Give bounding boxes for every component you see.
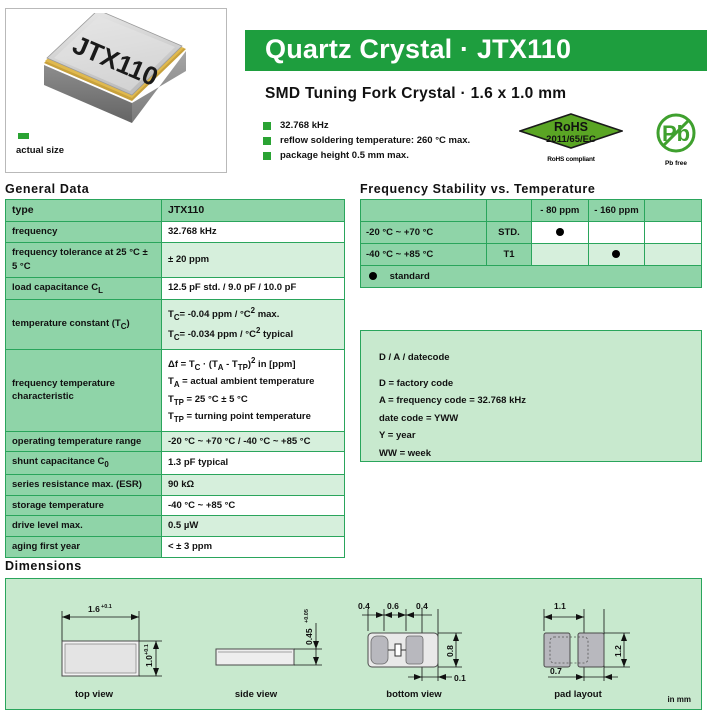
cell-temp-range: -40 °C ~ +85 °C <box>361 244 487 266</box>
table-row: -20 °C ~ +70 °C STD. <box>361 222 702 244</box>
standard-dot-icon <box>369 272 377 280</box>
product-header: JTX110 actual size Quartz Crystal · JTX1… <box>0 0 707 178</box>
cell-key: load capacitance CL <box>6 277 162 299</box>
table-row: series resistance max. (ESR) 90 kΩ <box>6 474 345 495</box>
cell-header-blank <box>487 200 532 222</box>
table-row: storage temperature -40 °C ~ +85 °C <box>6 495 345 516</box>
cell-value: JTX110 <box>162 200 345 222</box>
rohs-badge: RoHS 2011/65/EC RoHS compliant <box>519 113 623 163</box>
dim-pad-width: 0.7 <box>550 666 562 676</box>
cell-header-80ppm: - 80 ppm <box>532 200 589 222</box>
actual-size-swatch <box>18 133 29 139</box>
table-row: load capacitance CL 12.5 pF std. / 9.0 p… <box>6 277 345 299</box>
pad-layout-drawing: 1.1 1.2 0.7 <box>526 593 686 688</box>
table-row: - 80 ppm - 160 ppm <box>361 200 702 222</box>
view-caption-side: side view <box>196 689 316 700</box>
bullet-square-icon <box>263 152 271 160</box>
frequency-stability-table: - 80 ppm - 160 ppm -20 °C ~ +70 °C STD. … <box>360 199 702 288</box>
cell-mark <box>588 222 645 244</box>
cell-grade-code: T1 <box>487 244 532 266</box>
cell-header-blank <box>645 200 702 222</box>
table-row: -40 °C ~ +85 °C T1 <box>361 244 702 266</box>
table-row: drive level max. 0.5 µW <box>6 516 345 537</box>
cell-key: type <box>6 200 162 222</box>
top-view-drawing: 1.6 +0.1 1.0 +0.1 <box>44 593 194 688</box>
view-caption-top: top view <box>34 689 154 700</box>
page-title: Quartz Crystal · JTX110 <box>245 30 707 65</box>
cell-value: 32.768 kHz <box>162 222 345 243</box>
cell-key: storage temperature <box>6 495 162 516</box>
product-subtitle: SMD Tuning Fork Crystal · 1.6 x 1.0 mm <box>265 85 566 103</box>
dim-bottom-gap: 0.1 <box>454 673 466 683</box>
cell-value: 90 kΩ <box>162 474 345 495</box>
highlight-text: reflow soldering temperature: 260 °C max… <box>280 135 470 146</box>
standard-dot-icon <box>556 228 564 236</box>
units-note: in mm <box>667 695 691 704</box>
view-caption-pad: pad layout <box>518 689 638 700</box>
table-row: operating temperature range -20 °C ~ +70… <box>6 431 345 452</box>
highlight-text: 32.768 kHz <box>280 120 329 131</box>
cell-mark <box>532 244 589 266</box>
pb-free-badge: Pb Pb free <box>650 112 702 167</box>
cell-value: 12.5 pF std. / 9.0 pF / 10.0 pF <box>162 277 345 299</box>
list-item: reflow soldering temperature: 260 °C max… <box>263 135 470 146</box>
cell-header-blank <box>361 200 487 222</box>
cell-value: -40 °C ~ +85 °C <box>162 495 345 516</box>
marking-line: Y = year <box>379 427 701 445</box>
standard-dot-icon <box>612 250 620 258</box>
dim-top-height: 1.0 <box>144 655 154 667</box>
marking-legend-panel: D / A / datecode D = factory code A = fr… <box>360 330 702 462</box>
actual-size-caption: actual size <box>16 145 64 156</box>
frequency-stability-heading: Frequency Stability vs. Temperature <box>360 182 595 196</box>
cell-value: 0.5 µW <box>162 516 345 537</box>
cell-key: aging first year <box>6 537 162 558</box>
dimensions-panel: 1.6 +0.1 1.0 +0.1 top view 0.45 +0.05 si… <box>5 578 702 710</box>
cell-value: -20 °C ~ +70 °C / -40 °C ~ +85 °C <box>162 431 345 452</box>
marking-line: WW = week <box>379 445 701 463</box>
legend-row: standard <box>361 266 702 288</box>
pb-free-caption: Pb free <box>650 160 702 167</box>
cell-key: frequency temperature characteristic <box>6 349 162 431</box>
product-photo-panel: JTX110 actual size <box>5 8 227 173</box>
rohs-line1: RoHS <box>554 120 588 134</box>
cell-key: series resistance max. (ESR) <box>6 474 162 495</box>
cell-mark <box>588 244 645 266</box>
crystal-package-photo: JTX110 <box>14 13 219 133</box>
rohs-caption: RoHS compliant <box>519 156 623 163</box>
cell-mark <box>532 222 589 244</box>
dim-bottom-height: 0.8 <box>445 645 455 657</box>
cell-mark <box>645 222 702 244</box>
table-row: type JTX110 <box>6 200 345 222</box>
cell-key: drive level max. <box>6 516 162 537</box>
cell-key: shunt capacitance C0 <box>6 452 162 474</box>
highlight-text: package height 0.5 mm max. <box>280 150 409 161</box>
cell-value: Δf = TC · (TA - TTP)2 in [ppm] TA = actu… <box>162 349 345 431</box>
table-row: frequency temperature characteristic Δf … <box>6 349 345 431</box>
dim-side-height: 0.45 <box>304 628 314 645</box>
dim-bottom-b: 0.6 <box>387 601 399 611</box>
cell-mark <box>645 244 702 266</box>
table-row: frequency tolerance at 25 °C ± 5 °C ± 20… <box>6 242 345 277</box>
cell-value: ± 20 ppm <box>162 242 345 277</box>
table-row: temperature constant (TC) TC= -0.04 ppm … <box>6 299 345 349</box>
cell-key: frequency tolerance at 25 °C ± 5 °C <box>6 242 162 277</box>
cell-temp-range: -20 °C ~ +70 °C <box>361 222 487 244</box>
list-item: package height 0.5 mm max. <box>263 150 470 161</box>
highlight-list: 32.768 kHz reflow soldering temperature:… <box>263 120 470 165</box>
side-view-drawing: 0.45 +0.05 <box>204 593 354 688</box>
dim-pad-height: 1.2 <box>613 645 623 657</box>
cell-value: < ± 3 ppm <box>162 537 345 558</box>
bullet-square-icon <box>263 122 271 130</box>
marking-line: A = frequency code = 32.768 kHz <box>379 392 701 410</box>
table-row: frequency 32.768 kHz <box>6 222 345 243</box>
general-data-table: type JTX110 frequency 32.768 kHz frequen… <box>5 199 345 558</box>
legend-label: standard <box>390 271 430 282</box>
cell-key: operating temperature range <box>6 431 162 452</box>
cell-value: 1.3 pF typical <box>162 452 345 474</box>
cell-key: frequency <box>6 222 162 243</box>
table-row: shunt capacitance C0 1.3 pF typical <box>6 452 345 474</box>
dim-side-height-tol: +0.05 <box>304 609 310 623</box>
dim-top-height-tol: +0.1 <box>144 644 150 655</box>
pb-free-icon: Pb <box>655 112 697 154</box>
bullet-square-icon <box>263 137 271 145</box>
bottom-view-drawing: 0.4 0.6 0.4 0.8 0.1 <box>354 593 519 688</box>
marking-line: date code = YWW <box>379 410 701 428</box>
view-caption-bottom: bottom view <box>354 689 474 700</box>
general-data-heading: General Data <box>5 182 89 196</box>
table-row: aging first year < ± 3 ppm <box>6 537 345 558</box>
dimensions-heading: Dimensions <box>5 559 82 573</box>
cell-header-160ppm: - 160 ppm <box>588 200 645 222</box>
dim-bottom-a: 0.4 <box>358 601 370 611</box>
cell-value: TC= -0.04 ppm / °C2 max. TC= -0.034 ppm … <box>162 299 345 349</box>
marking-line: D = factory code <box>379 375 701 393</box>
table-row: standard <box>361 266 702 288</box>
rohs-diamond-icon: RoHS 2011/65/EC <box>519 113 623 150</box>
dim-top-width-tol: +0.1 <box>101 604 112 610</box>
dim-bottom-c: 0.4 <box>416 601 428 611</box>
cell-key: temperature constant (TC) <box>6 299 162 349</box>
product-title-bar: Quartz Crystal · JTX110 <box>245 30 707 71</box>
cell-grade-code: STD. <box>487 222 532 244</box>
list-item: 32.768 kHz <box>263 120 470 131</box>
marking-format: D / A / datecode <box>379 349 701 367</box>
rohs-line2: 2011/65/EC <box>546 134 596 145</box>
dim-top-width: 1.6 <box>88 604 100 614</box>
dim-pad-pitch: 1.1 <box>554 601 566 611</box>
